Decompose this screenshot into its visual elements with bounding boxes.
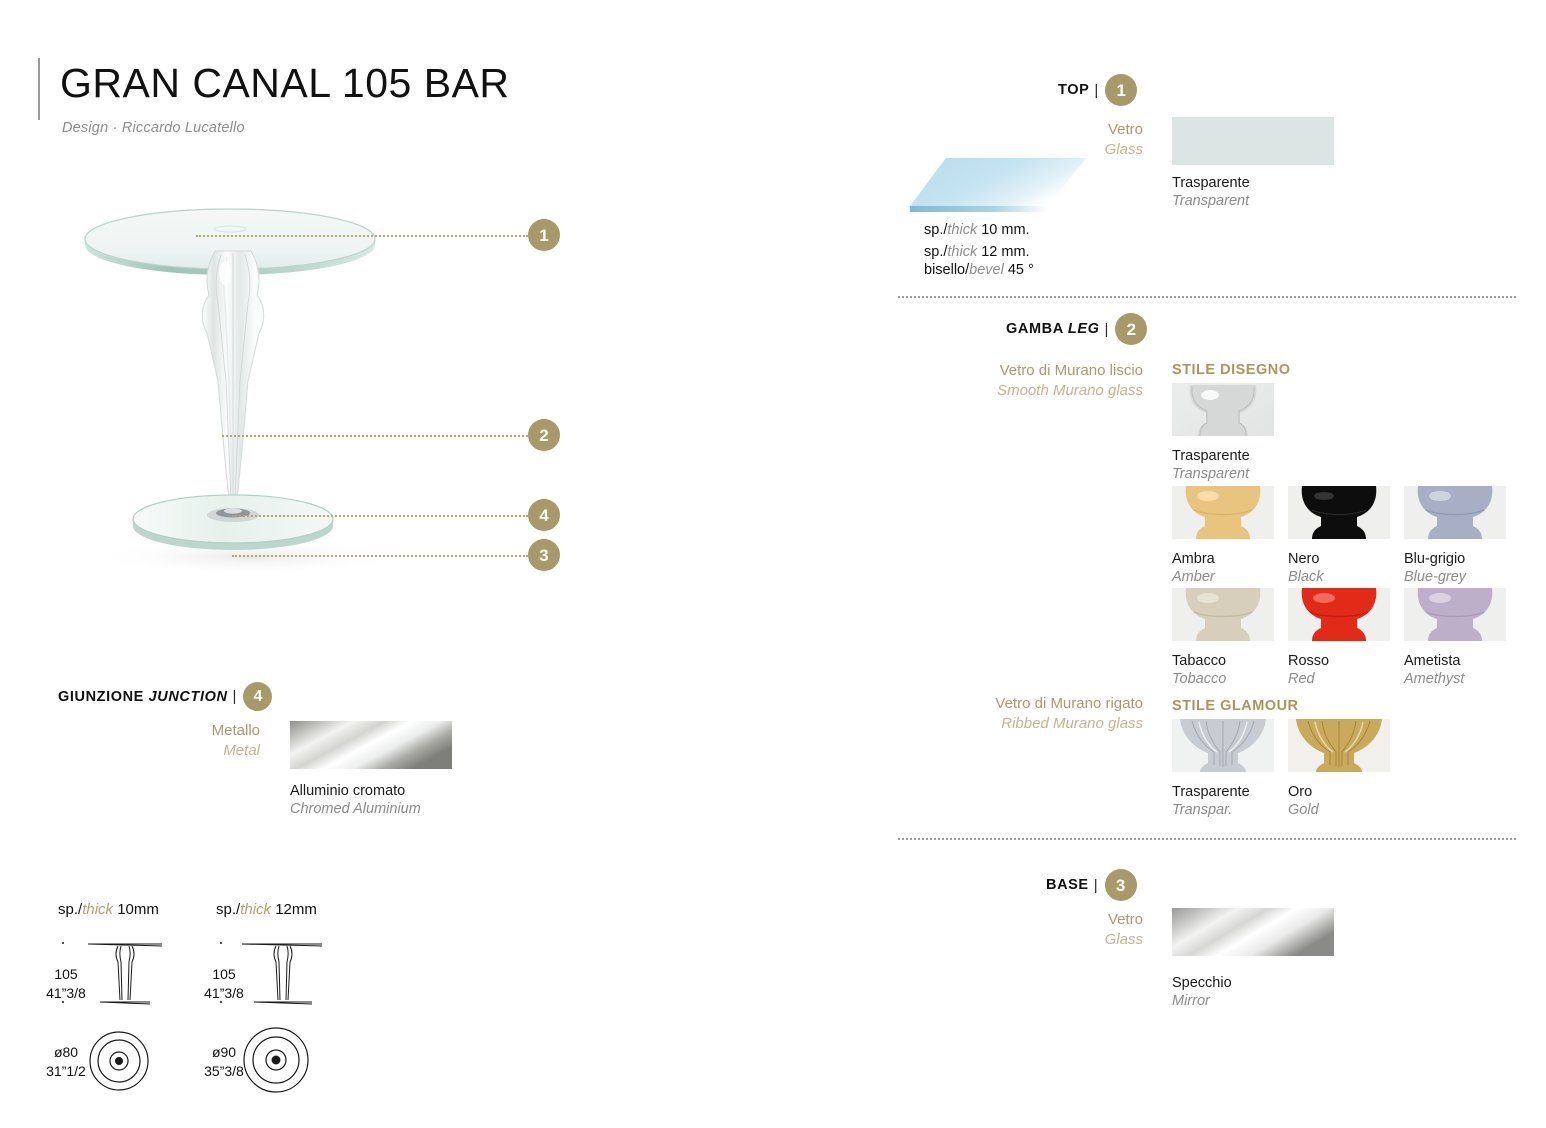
dim-header-0: sp./thick 10mm	[58, 901, 159, 918]
callout-leader-4	[232, 515, 528, 517]
leg-pipe: |	[1104, 321, 1108, 338]
leg-swatch-rosso	[1288, 588, 1390, 641]
leg-ribbed-it-0: Trasparente	[1172, 783, 1250, 801]
leg-caption-rosso: Rosso Red	[1288, 652, 1329, 688]
leg-swatch-ametista	[1404, 588, 1506, 641]
top-pipe: |	[1094, 82, 1098, 99]
junction-swatch	[290, 721, 452, 769]
base-pipe: |	[1094, 877, 1098, 894]
base-material-label: Vetro Glass	[1000, 910, 1143, 951]
leg-swatch-ambra	[1172, 486, 1274, 539]
title-accent-bar	[38, 58, 40, 120]
callout-leader-1	[196, 235, 528, 237]
leg-label-en: LEG	[1068, 321, 1100, 337]
base-finish-it: Specchio	[1172, 974, 1232, 992]
junction-label-it: GIUNZIONE	[58, 689, 144, 705]
callout-badge-4[interactable]: 4	[528, 499, 560, 531]
dim-diameter-cm-0: ø80	[54, 1044, 78, 1060]
leg-swatch-tabacco	[1172, 588, 1274, 641]
dim-diameter-in-1: 35”3/8	[204, 1063, 244, 1079]
junction-label-en: JUNCTION	[149, 689, 228, 705]
top-spec-line-0: sp./thick 10 mm.	[924, 220, 1030, 241]
designer-credit: Design · Riccardo Lucatello	[62, 120, 245, 136]
leg-badge[interactable]: 2	[1115, 313, 1147, 345]
base-badge[interactable]: 3	[1105, 869, 1137, 901]
leg-ribbed-material-en: Ribbed Murano glass	[1001, 715, 1143, 732]
leg-smooth-material-label: Vetro di Murano liscio Smooth Murano gla…	[940, 361, 1143, 402]
leg-swatch-nero	[1288, 486, 1390, 539]
leg-swatch-trasparente	[1172, 383, 1274, 436]
leg-swatch-blu-grigio	[1404, 486, 1506, 539]
junction-finish-it: Alluminio cromato	[290, 782, 421, 800]
top-spec-value-0: 10 mm.	[977, 222, 1029, 238]
leg-ribbed-en-0: Transpar.	[1172, 801, 1250, 819]
junction-pipe: |	[233, 688, 237, 705]
dim-prefix-1: sp./	[216, 901, 240, 918]
top-label: TOP	[1058, 82, 1089, 98]
callout-badge-1[interactable]: 1	[528, 219, 560, 251]
leg-finish-it-4: Tabacco	[1172, 652, 1226, 670]
junction-badge[interactable]: 4	[243, 682, 272, 711]
section-header-top: TOP | 1	[1058, 74, 1137, 106]
leg-finish-it-0: Trasparente	[1172, 447, 1250, 465]
top-spec-prefix-1: sp./	[924, 244, 947, 260]
top-finish-en: Transparent	[1172, 192, 1250, 210]
dim-header-1: sp./thick 12mm	[216, 901, 317, 918]
section-header-junction: GIUNZIONE JUNCTION | 4	[58, 682, 272, 711]
junction-finish-en: Chromed Aluminium	[290, 800, 421, 818]
leg-caption-ametista: Ametista Amethyst	[1404, 652, 1464, 688]
page-title: GRAN CANAL 105 BAR	[60, 60, 510, 107]
leg-finish-en-4: Tobacco	[1172, 670, 1226, 688]
leg-caption-nero: Nero Black	[1288, 550, 1323, 586]
junction-material-it: Metallo	[212, 722, 260, 739]
stile-disegno-header: STILE DISEGNO	[1172, 362, 1291, 378]
leg-swatch-glamour-trasparente	[1172, 719, 1274, 772]
top-finish-caption: Trasparente Transparent	[1172, 174, 1250, 210]
dim-plan-drawing-0	[88, 1030, 150, 1092]
leg-caption-glamour-oro: Oro Gold	[1288, 783, 1319, 819]
base-finish-caption: Specchio Mirror	[1172, 974, 1232, 1010]
leg-finish-en-0: Transparent	[1172, 465, 1250, 483]
dim-diameter-in-0: 31”1/2	[46, 1063, 86, 1079]
dim-elevation-drawing-1	[218, 940, 328, 1020]
top-badge[interactable]: 1	[1105, 74, 1137, 106]
junction-material-label: Metallo Metal	[120, 721, 260, 762]
top-material-en: Glass	[1105, 141, 1143, 158]
leg-finish-en-2: Black	[1288, 568, 1323, 586]
top-spec-line-2: bisello/bevel 45 °	[924, 260, 1034, 281]
leg-finish-it-1: Ambra	[1172, 550, 1215, 568]
dim-value-0: 10mm	[113, 901, 159, 918]
leg-finish-en-3: Blue-grey	[1404, 568, 1466, 586]
callout-leader-2	[222, 435, 528, 437]
leg-ribbed-material-it: Vetro di Murano rigato	[995, 695, 1143, 712]
leg-finish-it-3: Blu-grigio	[1404, 550, 1466, 568]
dim-em-0: thick	[82, 901, 113, 918]
divider-top-leg	[898, 296, 1516, 298]
top-finish-it: Trasparente	[1172, 174, 1250, 192]
leg-ribbed-it-1: Oro	[1288, 783, 1319, 801]
dim-plan-drawing-1	[242, 1026, 310, 1094]
leg-caption-ambra: Ambra Amber	[1172, 550, 1215, 586]
junction-material-en: Metal	[223, 742, 260, 759]
junction-finish-caption: Alluminio cromato Chromed Aluminium	[290, 782, 421, 818]
base-material-it: Vetro	[1108, 911, 1143, 928]
dim-elevation-drawing-0	[60, 940, 170, 1020]
leg-finish-en-5: Red	[1288, 670, 1329, 688]
top-spec-em-2: bevel	[969, 262, 1004, 278]
leg-finish-en-1: Amber	[1172, 568, 1215, 586]
base-finish-en: Mirror	[1172, 992, 1232, 1010]
leg-finish-it-6: Ametista	[1404, 652, 1464, 670]
dim-em-1: thick	[240, 901, 271, 918]
section-header-leg: GAMBA LEG | 2	[1006, 313, 1147, 345]
leg-caption-tabacco: Tabacco Tobacco	[1172, 652, 1226, 688]
top-spec-em-0: thick	[947, 222, 977, 238]
leg-swatch-glamour-oro	[1288, 719, 1390, 772]
leg-label-it: GAMBA	[1006, 321, 1063, 337]
dim-value-1: 12mm	[271, 901, 317, 918]
callout-badge-2[interactable]: 2	[528, 419, 560, 451]
base-label: BASE	[1046, 877, 1089, 893]
leg-finish-it-2: Nero	[1288, 550, 1323, 568]
leg-caption-glamour-trasparente: Trasparente Transpar.	[1172, 783, 1250, 819]
spec-sheet-page: GRAN CANAL 105 BAR Design · Riccardo Luc…	[0, 0, 1546, 1128]
divider-leg-base	[898, 838, 1516, 840]
leg-finish-it-5: Rosso	[1288, 652, 1329, 670]
stile-glamour-header: STILE GLAMOUR	[1172, 698, 1299, 714]
top-spec-value-1: 12 mm.	[977, 244, 1029, 260]
leg-smooth-material-en: Smooth Murano glass	[997, 382, 1143, 399]
product-photo	[55, 185, 525, 585]
leg-finish-en-6: Amethyst	[1404, 670, 1464, 688]
top-material-it: Vetro	[1108, 121, 1143, 138]
callout-badge-3[interactable]: 3	[528, 539, 560, 571]
top-spec-prefix-2: bisello/	[924, 262, 969, 278]
leg-caption-trasparente: Trasparente Transparent	[1172, 447, 1250, 483]
callout-leader-3	[232, 555, 528, 557]
dim-diameter-0: ø80 31”1/2	[36, 1043, 96, 1081]
base-swatch	[1172, 908, 1334, 956]
top-swatch	[1172, 117, 1334, 165]
leg-smooth-material-it: Vetro di Murano liscio	[1000, 362, 1143, 379]
top-spec-prefix-0: sp./	[924, 222, 947, 238]
leg-caption-blu-grigio: Blu-grigio Blue-grey	[1404, 550, 1466, 586]
top-spec-em-1: thick	[947, 244, 977, 260]
section-header-base: BASE | 3	[1046, 869, 1137, 901]
top-glass-panel-illustration	[908, 150, 1093, 222]
dim-prefix-0: sp./	[58, 901, 82, 918]
base-material-en: Glass	[1105, 931, 1143, 948]
top-spec-value-2: 45 °	[1004, 262, 1034, 278]
leg-ribbed-en-1: Gold	[1288, 801, 1319, 819]
dim-diameter-cm-1: ø90	[212, 1044, 236, 1060]
leg-ribbed-material-label: Vetro di Murano rigato Ribbed Murano gla…	[940, 694, 1143, 735]
